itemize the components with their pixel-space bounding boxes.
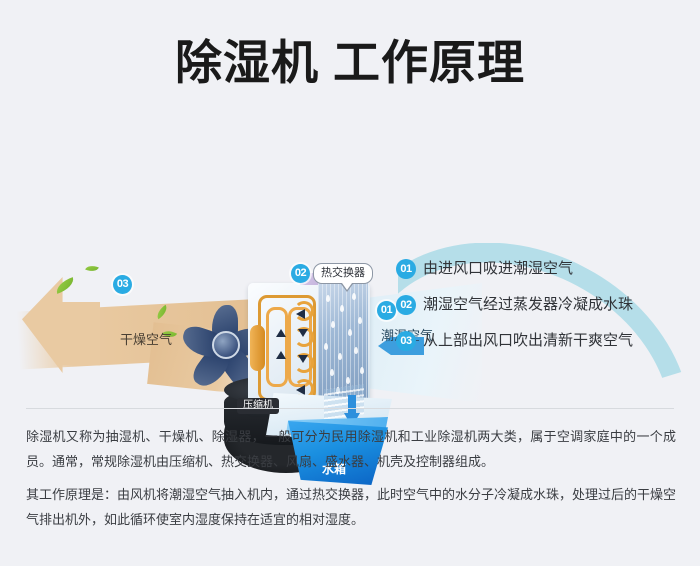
accumulator-icon	[250, 325, 265, 371]
page-title-part1: 除湿机	[175, 36, 319, 89]
diagram-badge-heat-exchanger: 02	[291, 264, 310, 283]
description-paragraph-2: 其工作原理是：由风机将潮湿空气抽入机内，通过热交换器，此时空气中的水分子冷凝成水…	[26, 482, 676, 532]
step-badge: 02	[396, 295, 416, 315]
page-title: 除湿机工作原理	[0, 34, 700, 92]
diagram-badge-humid-air: 01	[377, 301, 396, 320]
step-list: 01 由进风口吸进潮湿空气 02 潮湿空气经过蒸发器冷凝成水珠 03 从上部出风…	[396, 255, 696, 363]
refrigerant-coil-assembly	[254, 293, 316, 399]
section-divider	[26, 408, 674, 409]
label-dry-air: 干燥空气	[120, 329, 172, 348]
list-item: 01 由进风口吸进潮湿空气	[396, 255, 696, 291]
step-badge: 03	[396, 331, 416, 351]
step-text: 由进风口吸进潮湿空气	[423, 257, 573, 281]
label-compressor: 压缩机	[237, 398, 279, 414]
list-item: 03 从上部出风口吹出清新干爽空气	[396, 327, 696, 363]
diagram-badge-dry-air: 03	[113, 275, 132, 294]
step-badge: 01	[396, 259, 416, 279]
page-title-part2: 工作原理	[333, 36, 525, 89]
step-text: 从上部出风口吹出清新干爽空气	[423, 329, 633, 353]
step-text: 潮湿空气经过蒸发器冷凝成水珠	[423, 293, 633, 317]
infographic-page: 除湿机工作原理	[0, 0, 700, 566]
leaf-icon	[85, 263, 99, 274]
list-item: 02 潮湿空气经过蒸发器冷凝成水珠	[396, 291, 696, 327]
callout-heat-exchanger: 热交换器	[313, 263, 373, 284]
description-paragraph-1: 除湿机又称为抽湿机、干燥机、除湿器，一般可分为民用除湿机和工业除湿机两大类，属于…	[26, 424, 676, 474]
